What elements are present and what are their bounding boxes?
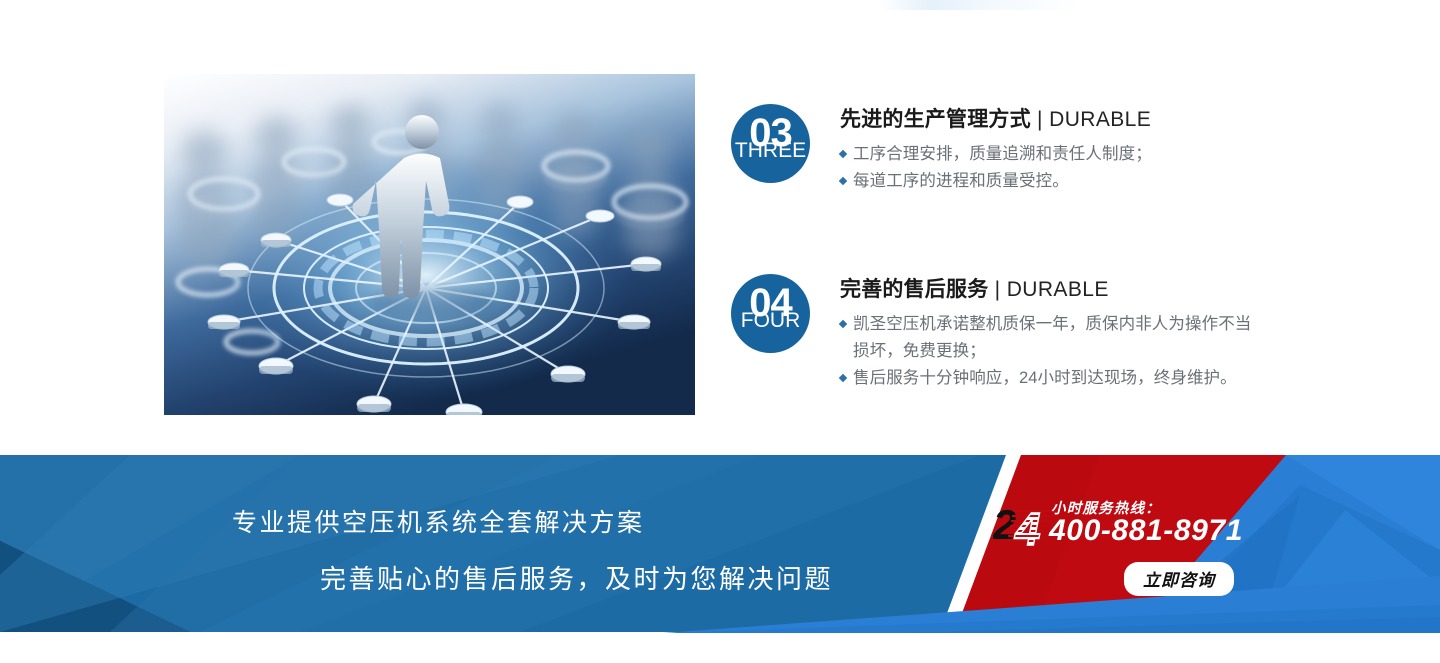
feature-text-04: 完善的售后服务 | DURABLE 凯圣空压机承诺整机质保一年，质保内非人为操作…	[840, 274, 1253, 392]
feature-bullets-03: 工序合理安排，质量追溯和责任人制度； 每道工序的进程和质量受控。	[840, 141, 1152, 195]
feature-title-en: DURABLE	[1049, 108, 1151, 131]
badge-04: 04 FOUR	[731, 274, 810, 353]
diamond-bullet-icon	[839, 374, 847, 382]
feature-bullet-text: 工序合理安排，质量追溯和责任人制度；	[853, 145, 1152, 163]
feature-bullet: 售后服务十分钟响应，24小时到达现场，终身维护。	[840, 365, 1253, 392]
network-people-photo	[164, 74, 695, 415]
feature-title-04: 完善的售后服务 | DURABLE	[840, 276, 1253, 304]
feature-title-sep: |	[1031, 108, 1049, 131]
feature-text-03: 先进的生产管理方式 | DURABLE 工序合理安排，质量追溯和责任人制度； 每…	[840, 104, 1152, 195]
consult-now-button[interactable]: 立即咨询	[1124, 562, 1234, 596]
feature-bullet-text: 售后服务十分钟响应，24小时到达现场，终身维护。	[853, 369, 1237, 387]
promo-page: 03 THREE 先进的生产管理方式 | DURABLE 工序合理安排，质量追溯…	[0, 0, 1440, 663]
feature-title-sep: |	[988, 278, 1006, 301]
badge-word: THREE	[731, 140, 810, 162]
top-edge-sliver	[880, 0, 1080, 10]
feature-bullet-text: 凯圣空压机承诺整机质保一年，质保内非人为操作不当损坏，免费更换；	[853, 315, 1251, 360]
feature-bullet: 每道工序的进程和质量受控。	[840, 168, 1152, 195]
badge-03: 03 THREE	[731, 104, 810, 183]
feature-title-cn: 完善的售后服务	[840, 278, 988, 301]
feature-title-cn: 先进的生产管理方式	[840, 108, 1031, 131]
diamond-bullet-icon	[839, 320, 847, 328]
feature-block-04: 04 FOUR 完善的售后服务 | DURABLE 凯圣空压机承诺整机质保一年，…	[731, 274, 1253, 392]
feature-title-en: DURABLE	[1007, 278, 1109, 301]
feature-bullet: 凯圣空压机承诺整机质保一年，质保内非人为操作不当损坏，免费更换；	[840, 311, 1253, 365]
feature-title-03: 先进的生产管理方式 | DURABLE	[840, 106, 1152, 134]
diamond-bullet-icon	[839, 177, 847, 185]
diamond-bullet-icon	[839, 150, 847, 158]
contact-banner	[0, 455, 1440, 663]
feature-bullets-04: 凯圣空压机承诺整机质保一年，质保内非人为操作不当损坏，免费更换； 售后服务十分钟…	[840, 311, 1253, 392]
badge-word: FOUR	[731, 310, 810, 332]
feature-bullet-text: 每道工序的进程和质量受控。	[853, 172, 1069, 190]
feature-bullet: 工序合理安排，质量追溯和责任人制度；	[840, 141, 1152, 168]
feature-block-03: 03 THREE 先进的生产管理方式 | DURABLE 工序合理安排，质量追溯…	[731, 104, 1152, 195]
